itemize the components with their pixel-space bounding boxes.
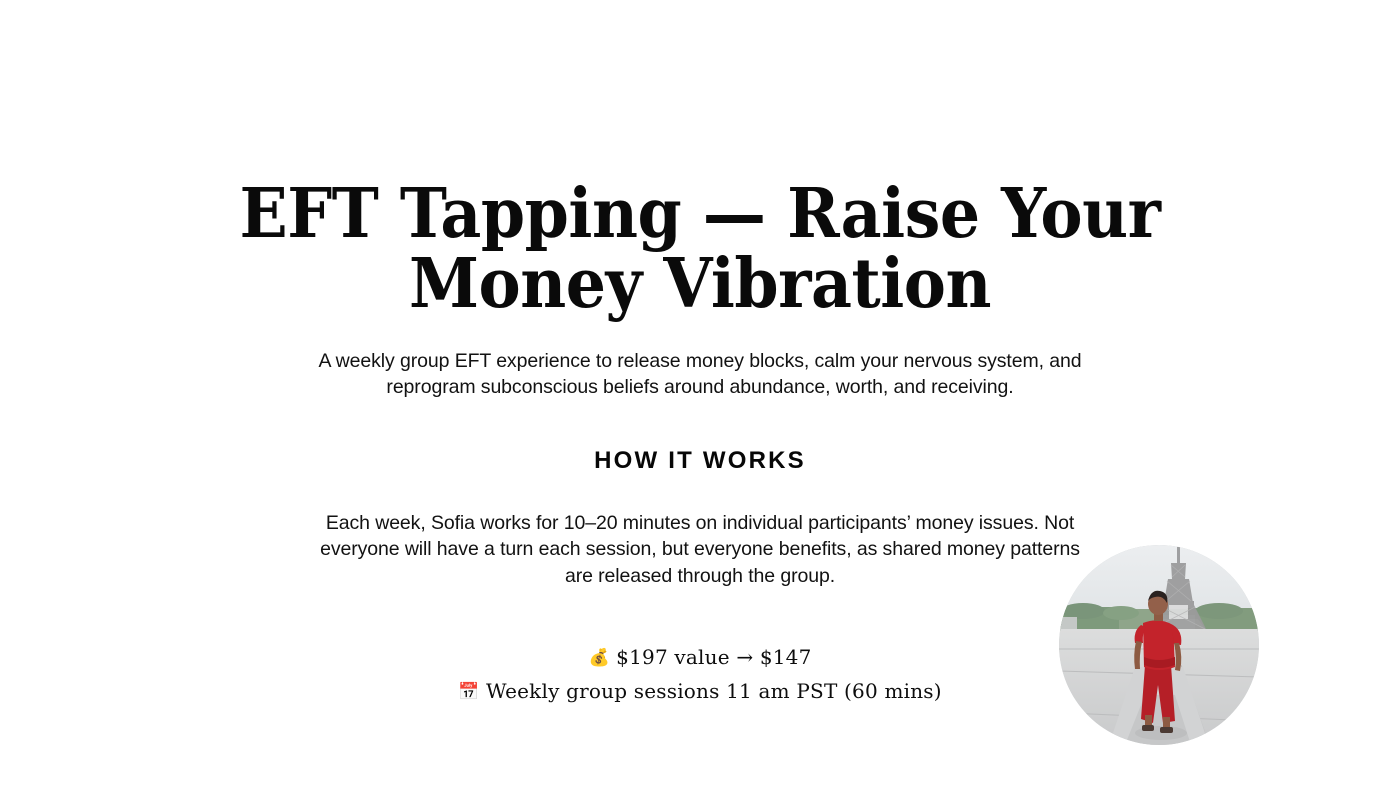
- body-paragraph: Each week, Sofia works for 10–20 minutes…: [312, 510, 1088, 590]
- page-title: EFT Tapping — Raise Your Money Vibration: [179, 179, 1221, 319]
- detail-schedule-text: Weekly group sessions 11 am PST (60 mins…: [486, 679, 942, 703]
- detail-price-line: 💰 $197 value → $147: [312, 641, 1088, 675]
- presenter-portrait: [1059, 545, 1259, 745]
- detail-price-text: $197 value → $147: [616, 645, 811, 669]
- section-heading-how-it-works: HOW IT WORKS: [312, 444, 1088, 478]
- detail-schedule-line: 📅 Weekly group sessions 11 am PST (60 mi…: [312, 675, 1088, 709]
- details-list: 💰 $197 value → $147 📅 Weekly group sessi…: [312, 641, 1088, 709]
- calendar-icon: 📅: [458, 682, 479, 702]
- slide-canvas: EFT Tapping — Raise Your Money Vibration…: [0, 0, 1400, 790]
- presenter-portrait-image: [1059, 545, 1259, 745]
- lead-paragraph: A weekly group EFT experience to release…: [312, 348, 1088, 401]
- money-bag-icon: 💰: [588, 648, 609, 668]
